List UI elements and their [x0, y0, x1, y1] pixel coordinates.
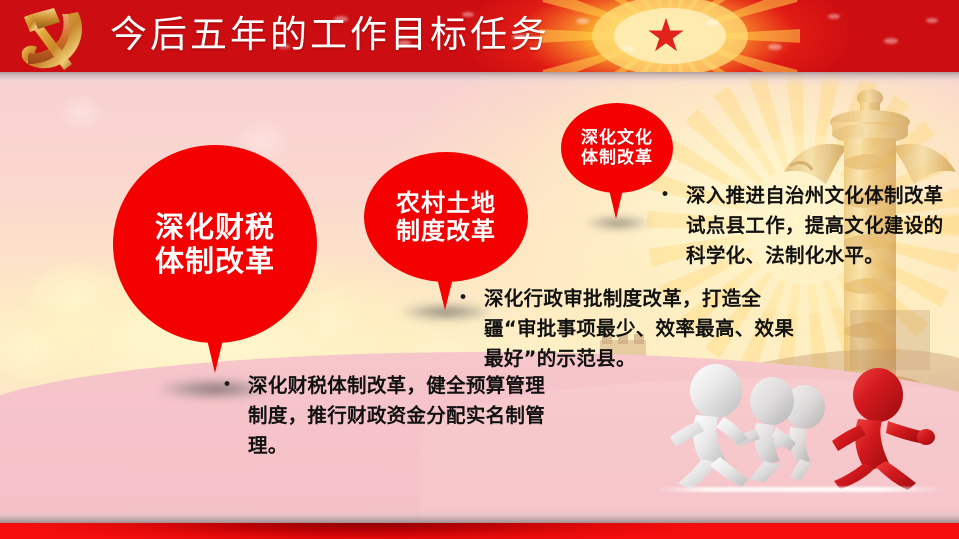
- figure-red-leader: [832, 368, 935, 490]
- bubble-label: 深化财税 体制改革: [155, 210, 275, 278]
- para-text: 深化财税体制改革，健全预算管理制度，推行财政资金分配实名制管理。: [248, 371, 552, 461]
- para-culture: • 深入推进自治州文化体制改革试点县工作，提高文化建设的科学化、法制化水平。: [660, 181, 956, 271]
- bubble-body: 农村土地 制度改革: [364, 152, 528, 282]
- bubble-line-2: 制度改革: [396, 217, 496, 245]
- bubble-line-2: 体制改革: [155, 244, 275, 278]
- bubble-line-1: 深化财税: [155, 210, 275, 244]
- hammer-and-sickle-emblem: [12, 2, 104, 72]
- bubble-label: 农村土地 制度改革: [396, 189, 496, 246]
- bubble-culture[interactable]: 深化文化 体制改革: [561, 103, 673, 221]
- bubble-line-1: 农村土地: [396, 189, 496, 217]
- footer-bar: [0, 523, 959, 539]
- bullet-marker: •: [222, 371, 232, 461]
- footer-reflection-strip: [0, 510, 959, 524]
- running-figures: [650, 355, 959, 490]
- slide-canvas: ★: [0, 0, 959, 539]
- bullet-marker: •: [660, 181, 670, 271]
- bubble-fiscal-tax[interactable]: 深化财税 体制改革: [113, 145, 317, 385]
- header-bar: ★: [0, 0, 959, 72]
- page-title: 今后五年的工作目标任务: [110, 11, 550, 59]
- bubble-line-2: 体制改革: [581, 148, 653, 168]
- figure-white-front: [670, 364, 748, 489]
- bubble-label: 深化文化 体制改革: [581, 128, 653, 168]
- bubble-body: 深化文化 体制改革: [561, 103, 673, 193]
- bullet-marker: •: [458, 284, 468, 374]
- bubble-line-1: 深化文化: [581, 128, 653, 148]
- bubble-body: 深化财税 体制改革: [113, 145, 317, 343]
- ground-highlight: [655, 487, 945, 492]
- figure-white-middle: [734, 377, 796, 483]
- header-reflection-strip: [0, 72, 959, 86]
- para-text: 深入推进自治州文化体制改革试点县工作，提高文化建设的科学化、法制化水平。: [686, 181, 956, 271]
- para-fiscal-tax: • 深化财税体制改革，健全预算管理制度，推行财政资金分配实名制管理。: [222, 371, 552, 461]
